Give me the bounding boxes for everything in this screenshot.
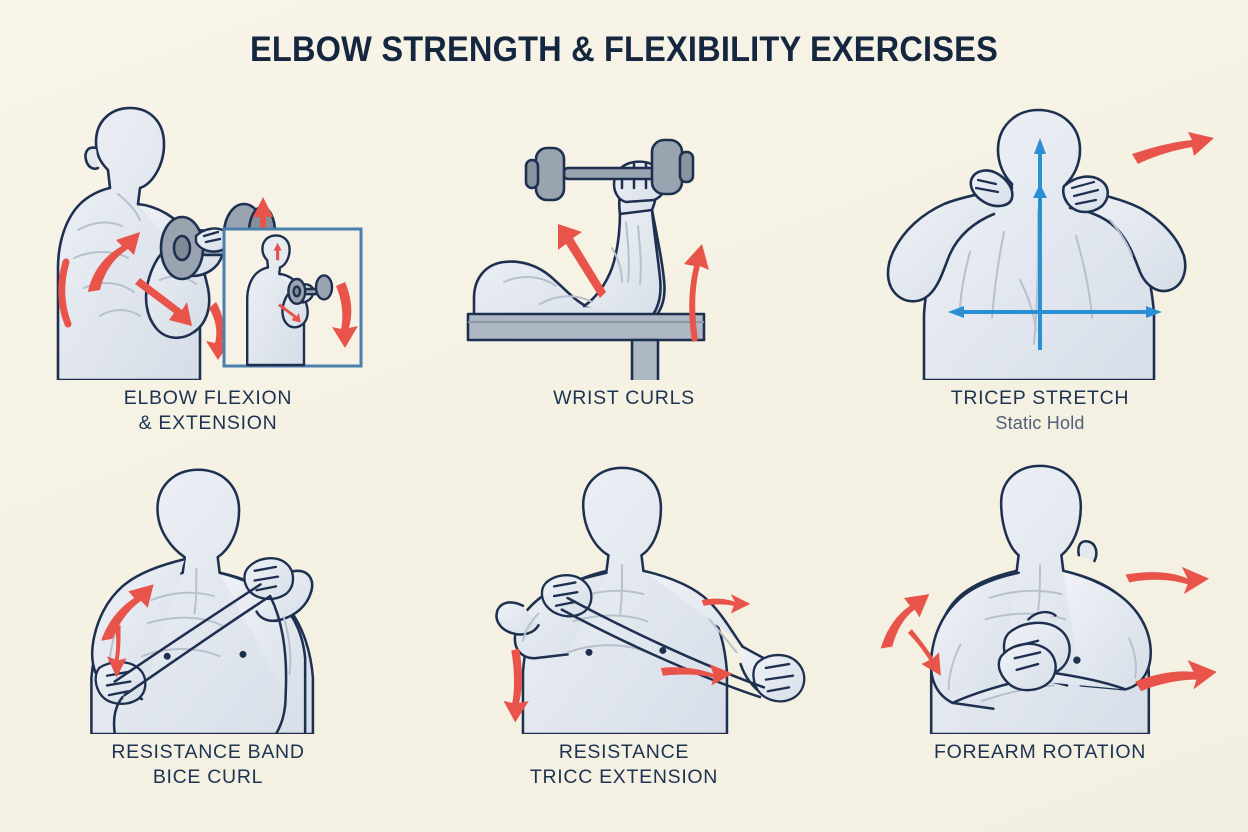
- nipple-marks: [1073, 656, 1080, 663]
- panel-resistance-tricep-extension: RESISTANCE TRICC EXTENSION: [416, 462, 832, 832]
- arrow-left-above-elbow: [1132, 132, 1214, 164]
- panel-elbow-flexion-extension: ELBOW FLEXION & EXTENSION: [0, 92, 416, 462]
- caption-line-2: TRICC EXTENSION: [530, 765, 718, 790]
- fist-left-at-shoulder: [542, 575, 591, 616]
- panel-caption: TRICEP STRETCH Static Hold: [951, 386, 1129, 435]
- illustration-wrist-curls: [416, 92, 832, 380]
- caption-line-1: ELBOW FLEXION: [124, 386, 292, 411]
- caption-line-2: BICE CURL: [111, 765, 304, 790]
- inset-thumbnail: [224, 229, 361, 366]
- panel-wrist-curls: WRIST CURLS: [416, 92, 832, 462]
- panel-tricep-stretch: TRICEP STRETCH Static Hold: [832, 92, 1248, 462]
- illustration-resistance-tricep-extension: [416, 462, 832, 734]
- caption-line-1: FOREARM ROTATION: [934, 740, 1146, 765]
- panel-forearm-rotation: FOREARM ROTATION: [832, 462, 1248, 832]
- page-title: ELBOW STRENGTH & FLEXIBILITY EXERCISES: [44, 30, 1205, 70]
- caption-line-2: & EXTENSION: [124, 411, 292, 436]
- illustration-forearm-rotation: [832, 462, 1248, 734]
- dumbbell: [526, 140, 693, 200]
- bench: [468, 314, 704, 380]
- panel-caption: RESISTANCE BAND BICE CURL: [111, 740, 304, 790]
- caption-line-1: RESISTANCE BAND: [111, 740, 304, 765]
- arrow-up-left-shoulder: [881, 594, 930, 648]
- exercise-poster: ELBOW STRENGTH & FLEXIBILITY EXERCISES: [0, 0, 1248, 832]
- figure-body: [931, 466, 1151, 734]
- panel-caption: WRIST CURLS: [553, 386, 695, 411]
- caption-line-1: TRICEP STRETCH: [951, 386, 1129, 411]
- panel-caption: ELBOW FLEXION & EXTENSION: [124, 386, 292, 436]
- illustration-tricep-stretch: [832, 92, 1248, 380]
- illustration-resistance-band-bicep-curl: [0, 462, 416, 734]
- fist-upper-right: [244, 558, 293, 599]
- panel-caption: RESISTANCE TRICC EXTENSION: [530, 740, 718, 790]
- direction-arrows: [1132, 132, 1214, 164]
- caption-line-1: RESISTANCE: [530, 740, 718, 765]
- panel-resistance-band-bicep-curl: RESISTANCE BAND BICE CURL: [0, 462, 416, 832]
- caption-subtitle: Static Hold: [951, 412, 1129, 435]
- panel-caption: FOREARM ROTATION: [934, 740, 1146, 765]
- arrow-up-left-of-forearm: [558, 224, 606, 298]
- illustration-elbow-flexion-extension: [0, 92, 416, 380]
- fist-right-extended: [753, 655, 804, 701]
- arrow-left-upper-right: [1125, 567, 1209, 594]
- caption-line-1: WRIST CURLS: [553, 386, 695, 411]
- exercise-grid: ELBOW FLEXION & EXTENSION: [0, 92, 1248, 832]
